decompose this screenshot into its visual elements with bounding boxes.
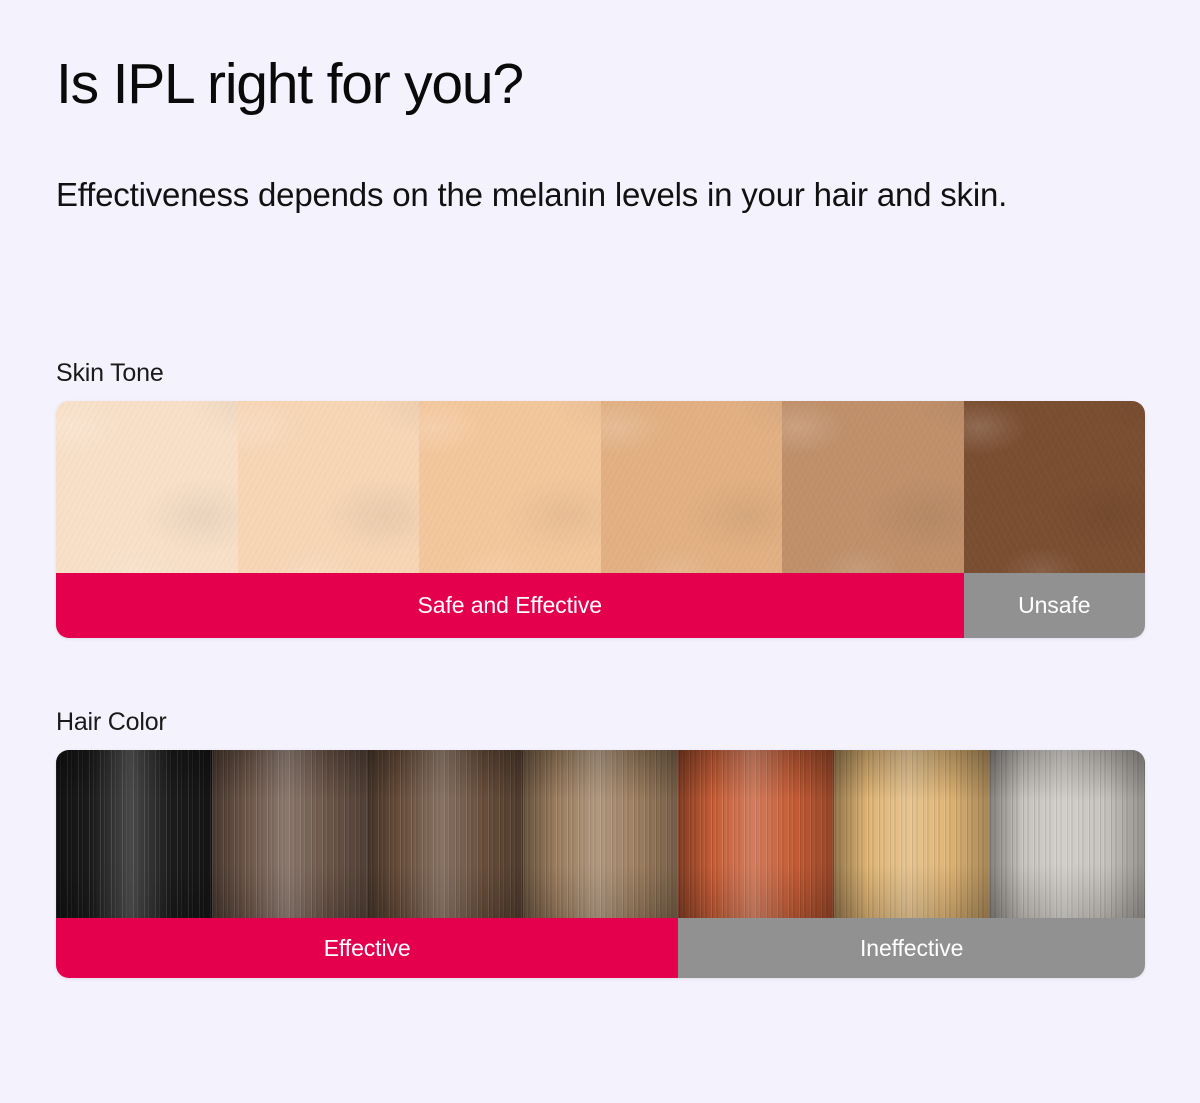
status-unsafe: Unsafe [964, 573, 1146, 638]
status-ineffective: Ineffective [678, 918, 1145, 978]
skin-tone-6 [964, 401, 1146, 573]
section-label-skin-tone: Skin Tone [56, 358, 164, 388]
page-title: Is IPL right for you? [56, 52, 523, 116]
section-label-hair-color: Hair Color [56, 707, 167, 737]
skin-tone-3 [419, 401, 601, 573]
page-subtitle: Effectiveness depends on the melanin lev… [56, 168, 1016, 222]
hair-color-dark-brown [212, 750, 368, 918]
skin-tone-5 [782, 401, 964, 573]
skin-tone-4 [601, 401, 783, 573]
skin-tone-scale: Safe and EffectiveUnsafe [56, 401, 1145, 638]
skin-tone-1 [56, 401, 238, 573]
skin-tone-status-row: Safe and EffectiveUnsafe [56, 573, 1145, 638]
hair-color-scale: EffectiveIneffective [56, 750, 1145, 978]
hair-color-light-brown [523, 750, 679, 918]
hair-color-platinum-gray [989, 750, 1145, 918]
hair-color-status-row: EffectiveIneffective [56, 918, 1145, 978]
hair-color-blonde [834, 750, 990, 918]
ipl-suitability-page: Is IPL right for you? Effectiveness depe… [0, 0, 1200, 1103]
hair-color-red [678, 750, 834, 918]
skin-tone-swatch-row [56, 401, 1145, 573]
status-effective: Effective [56, 918, 678, 978]
status-safe-and-effective: Safe and Effective [56, 573, 964, 638]
skin-tone-2 [238, 401, 420, 573]
hair-color-black [56, 750, 212, 918]
hair-color-medium-brown [367, 750, 523, 918]
hair-color-swatch-row [56, 750, 1145, 918]
